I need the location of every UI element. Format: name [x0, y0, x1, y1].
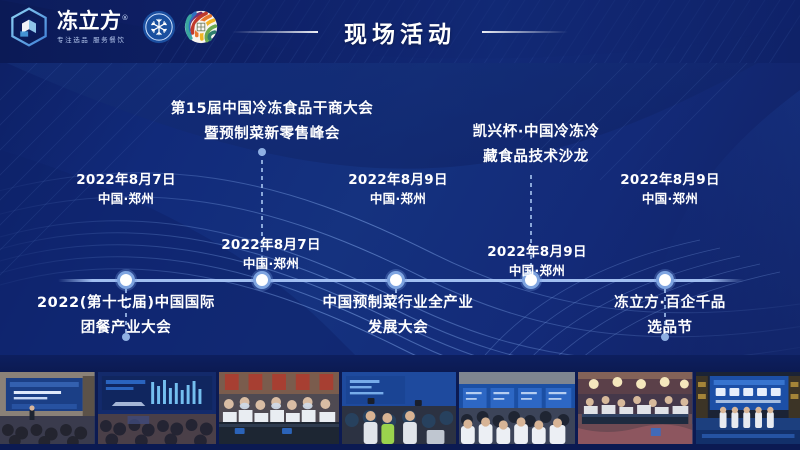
- brand-text: 冻立方® 专注选品 服务餐饮: [57, 10, 129, 44]
- slide-canvas: 冻立方® 专注选品 服务餐饮: [0, 0, 800, 450]
- node-1-date: 2022年8月7日: [76, 171, 176, 190]
- node-4-event-line-2: 藏食品技术沙龙: [473, 145, 600, 170]
- node-2-city: 中国·郑州: [221, 255, 321, 273]
- node-1-city: 中国·郑州: [76, 190, 176, 208]
- photo-3[interactable]: [219, 372, 339, 444]
- node-5-city: 中国·郑州: [620, 190, 720, 208]
- brand-name: 冻立方®: [57, 10, 129, 32]
- node-4-date-block: 2022年8月9日 中国·郑州: [487, 243, 587, 280]
- node-2-event-block: 第15届中国冷冻食品干商大会 暨预制菜新零售峰会: [171, 97, 374, 147]
- photo-1[interactable]: [0, 372, 95, 444]
- partner-emblems: [142, 10, 218, 44]
- registered-mark: ®: [122, 14, 130, 22]
- node-2-event-line-2: 暨预制菜新零售峰会: [171, 122, 374, 147]
- photo-7[interactable]: [696, 372, 800, 444]
- node-3-date: 2022年8月9日: [348, 171, 448, 190]
- node-3-event-line-1: 中国预制菜行业全产业: [323, 291, 474, 316]
- brand-tagline: 专注选品 服务餐饮: [57, 34, 129, 44]
- timeline-node-3[interactable]: [387, 271, 405, 289]
- node-3-event-line-2: 发展大会: [323, 316, 474, 341]
- photostrip-bottom-pad: [0, 444, 800, 450]
- node-2-date: 2022年8月7日: [221, 236, 321, 255]
- photo-strip: [0, 372, 800, 444]
- node-1-date-block: 2022年8月7日 中国·郑州: [76, 171, 176, 208]
- node-3-date-block: 2022年8月9日 中国·郑州: [348, 171, 448, 208]
- node-5-date: 2022年8月9日: [620, 171, 720, 190]
- timeline-node-1[interactable]: [117, 271, 135, 289]
- photostrip-top-pad: [0, 355, 800, 372]
- colorful-circle-emblem-icon: [184, 10, 218, 44]
- node-2-date-block: 2022年8月7日 中国·郑州: [221, 236, 321, 273]
- node-3-event-block: 中国预制菜行业全产业 发展大会: [323, 291, 474, 341]
- photo-2[interactable]: [98, 372, 216, 444]
- node-2-event-line-1: 第15届中国冷冻食品干商大会: [171, 97, 374, 122]
- photo-6[interactable]: [578, 372, 692, 444]
- node-5-date-block: 2022年8月9日 中国·郑州: [620, 171, 720, 208]
- node-5-event-line-2: 选品节: [614, 316, 726, 341]
- node-1-event-line-2: 团餐产业大会: [37, 316, 215, 341]
- node-4-date: 2022年8月9日: [487, 243, 587, 262]
- node-3-city: 中国·郑州: [348, 190, 448, 208]
- timeline-node-2[interactable]: [253, 271, 271, 289]
- timeline: 2022年8月7日 中国·郑州 2022(第十七届)中国国际 团餐产业大会 第1…: [0, 63, 800, 355]
- header-band: 冻立方® 专注选品 服务餐饮: [0, 0, 800, 63]
- photo-5[interactable]: [459, 372, 575, 444]
- node-5-event-block: 冻立方·百企千品 选品节: [614, 291, 726, 341]
- node-5-event-line-1: 冻立方·百企千品: [614, 291, 726, 316]
- node-1-event-line-1: 2022(第十七届)中国国际: [37, 291, 215, 316]
- node-4-city: 中国·郑州: [487, 262, 587, 280]
- timeline-node-5[interactable]: [656, 271, 674, 289]
- brand-lockup[interactable]: 冻立方® 专注选品 服务餐饮: [8, 6, 218, 48]
- node-2-endcap: [258, 148, 266, 156]
- snowflake-circle-emblem-icon: [142, 10, 176, 44]
- photo-4[interactable]: [342, 372, 456, 444]
- node-4-event-line-1: 凯兴杯·中国冷冻冷: [473, 120, 600, 145]
- node-4-event-block: 凯兴杯·中国冷冻冷 藏食品技术沙龙: [473, 120, 600, 170]
- brand-name-text: 冻立方: [57, 9, 122, 33]
- node-1-event-block: 2022(第十七届)中国国际 团餐产业大会: [37, 291, 215, 341]
- cube-snowflake-logo-icon: [8, 6, 50, 48]
